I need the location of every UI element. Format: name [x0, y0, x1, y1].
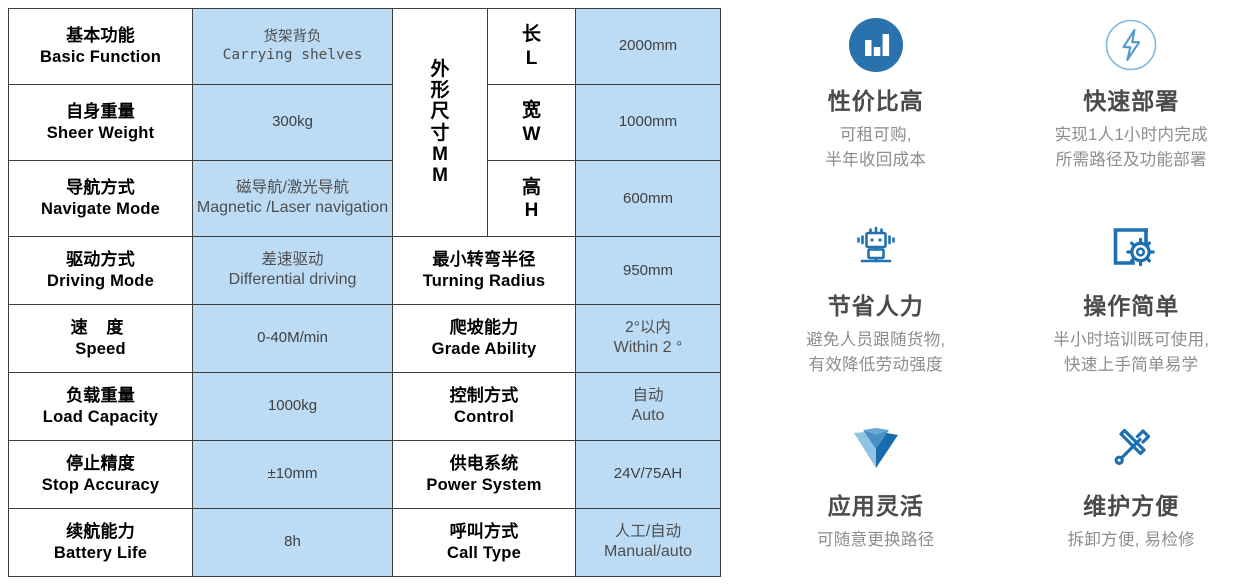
spec-label-sheer-weight: 自身重量 Sheer Weight: [9, 85, 193, 161]
desc-line: 避免人员跟随货物,: [806, 328, 945, 353]
spec-value-driving-mode: 差速驱动 Differential driving: [193, 237, 393, 305]
desc-line: 拆卸方便, 易检修: [1068, 528, 1195, 553]
spec-label-grade-ability: 爬坡能力 Grade Ability: [393, 305, 576, 373]
spec-label-speed: 速 度 Speed: [9, 305, 193, 373]
feature-item-simple-operation: 操作简单 半小时培训既可使用, 快速上手简单易学: [1004, 205, 1259, 405]
label-en: Driving Mode: [12, 271, 189, 291]
label-cn: 基本功能: [12, 26, 189, 47]
spec-value-power-system: 24V/75AH: [576, 441, 721, 509]
feature-title: 操作简单: [1083, 287, 1179, 321]
value-cn: 磁导航/激光导航: [196, 179, 389, 198]
feature-description: 可随意更换路径: [817, 528, 935, 553]
label-en: Grade Ability: [396, 339, 572, 359]
specification-table: 基本功能 Basic Function 货架背负 Carrying shelve…: [8, 8, 721, 577]
value-en: Differential driving: [196, 270, 389, 290]
wrench-screwdriver-icon: [1102, 419, 1160, 481]
desc-line: 可随意更换路径: [817, 528, 935, 553]
feature-description: 拆卸方便, 易检修: [1068, 528, 1195, 553]
spec-value-width: 1000mm: [576, 85, 721, 161]
label-en: Battery Life: [12, 543, 189, 563]
label-cn: 供电系统: [396, 454, 572, 475]
spec-dim-width: 宽 W: [488, 85, 576, 161]
label-cn: 导航方式: [12, 178, 189, 199]
value-text: 950mm: [579, 262, 717, 280]
value-en: Within 2 °: [579, 338, 717, 358]
feature-description: 避免人员跟随货物, 有效降低劳动强度: [806, 328, 945, 378]
spec-value-stop-accuracy: ±10mm: [193, 441, 393, 509]
feature-title: 节省人力: [828, 287, 924, 321]
label-en: Turning Radius: [396, 271, 572, 291]
table-row: 自身重量 Sheer Weight 300kg 宽 W 1000mm: [9, 85, 721, 161]
dim-cn: 高: [491, 176, 572, 199]
label-en: Power System: [396, 475, 572, 495]
spec-value-basic-function: 货架背负 Carrying shelves: [193, 9, 393, 85]
page-root: 基本功能 Basic Function 货架背负 Carrying shelve…: [0, 0, 1259, 584]
value-cn: 人工/自动: [579, 523, 717, 542]
spec-label-power-system: 供电系统 Power System: [393, 441, 576, 509]
value-text: 0-40M/min: [196, 329, 389, 347]
value-en: Manual/auto: [579, 542, 717, 562]
value-text: 8h: [196, 533, 389, 551]
label-cn: 控制方式: [396, 386, 572, 407]
feature-description: 半小时培训既可使用, 快速上手简单易学: [1053, 328, 1209, 378]
table-row: 驱动方式 Driving Mode 差速驱动 Differential driv…: [9, 237, 721, 305]
table-row: 基本功能 Basic Function 货架背负 Carrying shelve…: [9, 9, 721, 85]
spec-value-turning-radius: 950mm: [576, 237, 721, 305]
feature-item-save-manpower: 节省人力 避免人员跟随货物, 有效降低劳动强度: [748, 205, 1004, 405]
label-en: Load Capacity: [12, 407, 189, 427]
robot-head-icon: [848, 219, 904, 281]
desc-line: 可租可购,: [825, 123, 926, 148]
label-cn: 停止精度: [12, 454, 189, 475]
value-text: 1000kg: [196, 397, 389, 415]
label-en: Stop Accuracy: [12, 475, 189, 495]
spec-value-sheer-weight: 300kg: [193, 85, 393, 161]
feature-item-flexible-application: 应用灵活 可随意更换路径: [748, 405, 1004, 584]
spec-label-turning-radius: 最小转弯半径 Turning Radius: [393, 237, 576, 305]
desc-line: 有效降低劳动强度: [806, 353, 945, 378]
table-row: 续航能力 Battery Life 8h 呼叫方式 Call Type 人工/自…: [9, 508, 721, 576]
label-en: Navigate Mode: [12, 199, 189, 219]
label-cn: 呼叫方式: [396, 522, 572, 543]
desc-line: 半年收回成本: [825, 148, 926, 173]
feature-title: 快速部署: [1083, 82, 1179, 116]
spec-label-driving-mode: 驱动方式 Driving Mode: [9, 237, 193, 305]
table-row: 速 度 Speed 0-40M/min 爬坡能力 Grade Ability 2…: [9, 305, 721, 373]
spec-label-load-capacity: 负载重量 Load Capacity: [9, 373, 193, 441]
spec-dim-height: 高 H: [488, 161, 576, 237]
feature-title: 维护方便: [1083, 487, 1179, 521]
value-text: 24V/75AH: [579, 465, 717, 483]
feature-item-easy-maintenance: 维护方便 拆卸方便, 易检修: [1004, 405, 1259, 584]
label-en: Speed: [12, 339, 189, 359]
label-cn: 速 度: [12, 318, 189, 339]
spec-label-outer-dimensions: 外 形 尺 寸 M M: [393, 9, 488, 237]
spec-value-navigate-mode: 磁导航/激光导航 Magnetic /Laser navigation: [193, 161, 393, 237]
table-row: 导航方式 Navigate Mode 磁导航/激光导航 Magnetic /La…: [9, 161, 721, 237]
feature-highlights-grid: 性价比高 可租可购, 半年收回成本 快速部署 实现1人1小时内完成 所需路径及功…: [748, 0, 1259, 584]
spec-value-call-type: 人工/自动 Manual/auto: [576, 508, 721, 576]
lightning-circle-icon: [1102, 14, 1160, 76]
spec-label-stop-accuracy: 停止精度 Stop Accuracy: [9, 441, 193, 509]
label-cn: 续航能力: [12, 522, 189, 543]
spec-value-speed: 0-40M/min: [193, 305, 393, 373]
spec-value-battery-life: 8h: [193, 508, 393, 576]
spec-label-navigate-mode: 导航方式 Navigate Mode: [9, 161, 193, 237]
dim-cn: 宽: [491, 99, 572, 122]
value-en: Carrying shelves: [196, 47, 389, 65]
desc-line: 半小时培训既可使用,: [1053, 328, 1209, 353]
feature-description: 可租可购, 半年收回成本: [825, 123, 926, 173]
label-cn: 自身重量: [12, 102, 189, 123]
label-cn: 驱动方式: [12, 250, 189, 271]
dim-en: W: [491, 123, 572, 146]
label-en: Call Type: [396, 543, 572, 563]
spec-value-height: 600mm: [576, 161, 721, 237]
desc-line: 实现1人1小时内完成: [1055, 123, 1208, 148]
value-text: ±10mm: [196, 465, 389, 483]
vertical-char: M: [396, 165, 484, 186]
value-text: 600mm: [579, 190, 717, 208]
spec-value-grade-ability: 2°以内 Within 2 °: [576, 305, 721, 373]
spec-label-battery-life: 续航能力 Battery Life: [9, 508, 193, 576]
value-cn: 自动: [579, 387, 717, 406]
dim-en: H: [491, 199, 572, 222]
label-cn: 最小转弯半径: [396, 250, 572, 271]
bar-chart-circle-icon: [848, 14, 904, 76]
value-cn: 货架背负: [196, 29, 389, 47]
label-en: Basic Function: [12, 47, 189, 67]
value-text: 2000mm: [579, 37, 717, 55]
spec-value-length: 2000mm: [576, 9, 721, 85]
feature-item-cost-performance: 性价比高 可租可购, 半年收回成本: [748, 0, 1004, 205]
value-text: 1000mm: [579, 113, 717, 131]
feature-item-fast-deployment: 快速部署 实现1人1小时内完成 所需路径及功能部署: [1004, 0, 1259, 205]
spec-dim-length: 长 L: [488, 9, 576, 85]
vertical-char: 寸: [396, 123, 484, 144]
value-en: Magnetic /Laser navigation: [196, 198, 389, 218]
feature-description: 实现1人1小时内完成 所需路径及功能部署: [1055, 123, 1208, 173]
dim-en: L: [491, 47, 572, 70]
spec-label-call-type: 呼叫方式 Call Type: [393, 508, 576, 576]
value-cn: 2°以内: [579, 319, 717, 338]
label-en: Control: [396, 407, 572, 427]
value-text: 300kg: [196, 113, 389, 131]
feature-title: 应用灵活: [828, 487, 924, 521]
down-triangle-icon: [845, 419, 907, 481]
label-cn: 负载重量: [12, 386, 189, 407]
vertical-char: M: [396, 144, 484, 165]
table-row: 停止精度 Stop Accuracy ±10mm 供电系统 Power Syst…: [9, 441, 721, 509]
feature-title: 性价比高: [828, 82, 924, 116]
frame-gear-icon: [1102, 219, 1160, 281]
value-cn: 差速驱动: [196, 251, 389, 270]
spec-value-load-capacity: 1000kg: [193, 373, 393, 441]
spec-value-control: 自动 Auto: [576, 373, 721, 441]
spec-label-basic-function: 基本功能 Basic Function: [9, 9, 193, 85]
label-en: Sheer Weight: [12, 123, 189, 143]
dim-cn: 长: [491, 23, 572, 46]
table-row: 负载重量 Load Capacity 1000kg 控制方式 Control 自…: [9, 373, 721, 441]
specification-table-container: 基本功能 Basic Function 货架背负 Carrying shelve…: [8, 8, 720, 577]
label-cn: 爬坡能力: [396, 318, 572, 339]
value-en: Auto: [579, 406, 717, 426]
desc-line: 快速上手简单易学: [1053, 353, 1209, 378]
vertical-char: 外: [396, 59, 484, 80]
desc-line: 所需路径及功能部署: [1055, 148, 1208, 173]
vertical-char: 尺: [396, 101, 484, 122]
spec-label-control: 控制方式 Control: [393, 373, 576, 441]
vertical-char: 形: [396, 80, 484, 101]
